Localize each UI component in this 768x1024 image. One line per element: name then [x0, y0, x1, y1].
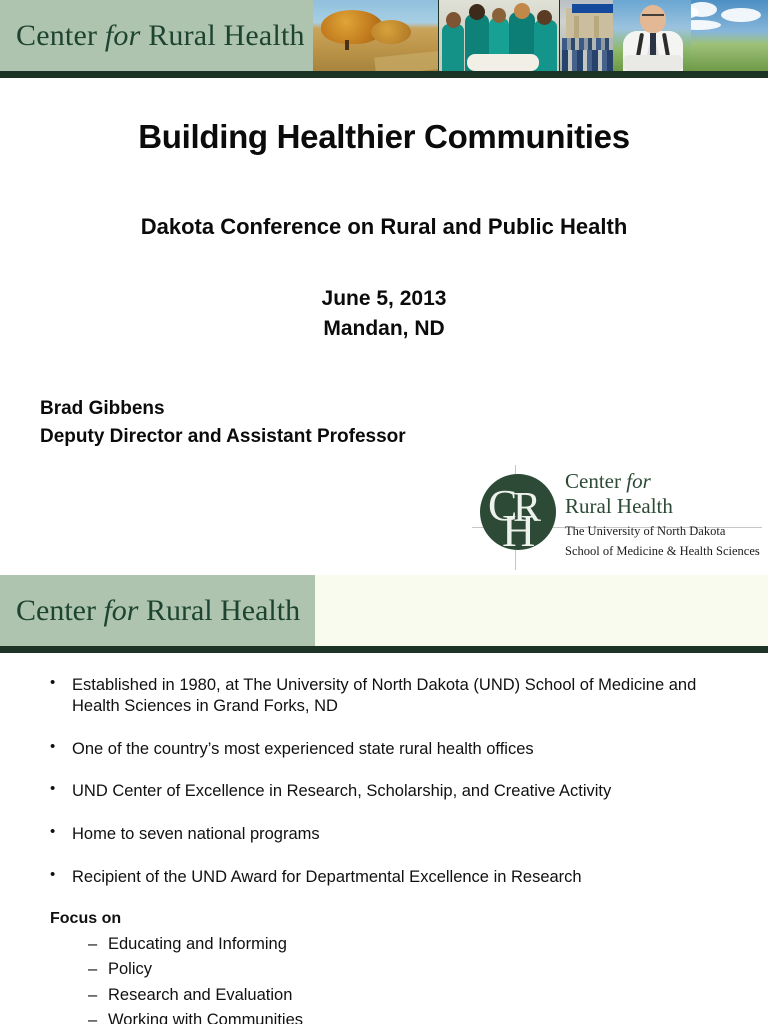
crh-logo: C R H Center for Rural Health The Univer…	[472, 465, 762, 570]
list-item: Established in 1980, at The University o…	[36, 675, 740, 717]
event-location: Mandan, ND	[0, 314, 768, 344]
logo-title: Center for	[565, 469, 765, 494]
presenter-role: Deputy Director and Assistant Professor	[40, 423, 768, 451]
logo-school: School of Medicine & Health Sciences	[565, 543, 765, 559]
list-item: Policy	[88, 957, 740, 983]
slide2-wordmark: Center for Rural Health	[0, 594, 300, 628]
prairie-path-shape	[374, 50, 438, 71]
list-item: One of the country’s most experienced st…	[36, 739, 740, 760]
slide-banner: Center for Rural Health	[0, 0, 768, 78]
folded-arms-shape	[623, 55, 683, 71]
cloud-shape	[687, 2, 717, 17]
eyeglasses-icon	[642, 14, 664, 19]
fact-bullet-list: Established in 1980, at The University o…	[36, 675, 740, 888]
presenter-name: Brad Gibbens	[40, 395, 768, 423]
head-shape	[537, 10, 552, 25]
banner-accent-bar	[0, 71, 768, 78]
title-block: Building Healthier Communities Dakota Co…	[0, 78, 768, 451]
necktie-shape	[650, 33, 656, 55]
head-shape	[469, 4, 485, 20]
page-title: Building Healthier Communities	[0, 118, 768, 156]
nursing-students-photo	[439, 0, 559, 71]
logo-title-line2: Rural Health	[565, 494, 765, 519]
tree-shape-secondary	[371, 20, 411, 44]
head-shape	[492, 8, 506, 23]
banner-wordmark-center: Center	[16, 19, 105, 52]
banner-wordmark: Center for Rural Health	[0, 19, 305, 53]
head-shape	[640, 5, 666, 33]
list-item: Recipient of the UND Award for Departmen…	[36, 867, 740, 888]
slide2-body: Established in 1980, at The University o…	[0, 653, 768, 1024]
logo-text-block: Center for Rural Health The University o…	[565, 469, 765, 559]
presenter-block: Brad Gibbens Deputy Director and Assista…	[0, 395, 768, 451]
cloud-shape	[721, 8, 761, 22]
banner-wordmark-for: for	[105, 19, 141, 52]
presentation-page: Center for Rural Health	[0, 0, 768, 1024]
exam-table-shape	[467, 54, 539, 71]
focus-sub-list: Educating and Informing Policy Research …	[88, 932, 740, 1024]
autumn-prairie-photo	[313, 0, 438, 71]
event-details: June 5, 2013 Mandan, ND	[0, 284, 768, 345]
event-date: June 5, 2013	[0, 284, 768, 314]
logo-monogram: C R H	[480, 474, 556, 550]
slide2-wordmark-block: Center for Rural Health	[0, 575, 315, 646]
banner-wordmark-rural-health: Rural Health	[141, 19, 305, 52]
list-item: Research and Evaluation	[88, 983, 740, 1009]
slide2-wordmark-rural-health: Rural Health	[138, 594, 300, 627]
focus-on-label: Focus on	[50, 910, 740, 928]
list-item: Educating and Informing	[88, 932, 740, 958]
head-shape	[514, 3, 530, 19]
slide2-accent-bar	[0, 646, 768, 653]
conference-subtitle: Dakota Conference on Rural and Public He…	[0, 214, 768, 240]
physician-portrait-photo	[613, 0, 691, 71]
logo-monogram-h: H	[502, 504, 535, 557]
slide2-wordmark-for: for	[103, 594, 138, 627]
list-item: Home to seven national programs	[36, 824, 740, 845]
head-shape	[446, 12, 461, 28]
slide2-wordmark-center: Center	[16, 594, 103, 627]
list-item: UND Center of Excellence in Research, Sc…	[36, 781, 740, 802]
logo-title-center: Center	[565, 469, 626, 493]
list-item: Working with Communities	[88, 1008, 740, 1024]
slide-about-crh: Center for Rural Health Established in 1…	[0, 575, 768, 1024]
logo-title-for: for	[626, 469, 651, 493]
tree-trunk-shape	[345, 40, 349, 50]
slide2-header: Center for Rural Health	[0, 575, 768, 653]
banner-wordmark-block: Center for Rural Health	[0, 0, 313, 71]
slide-title: Center for Rural Health	[0, 0, 768, 575]
scrub-figure	[442, 24, 464, 71]
banner-photo-strip	[313, 0, 768, 71]
logo-university: The University of North Dakota	[565, 523, 765, 539]
